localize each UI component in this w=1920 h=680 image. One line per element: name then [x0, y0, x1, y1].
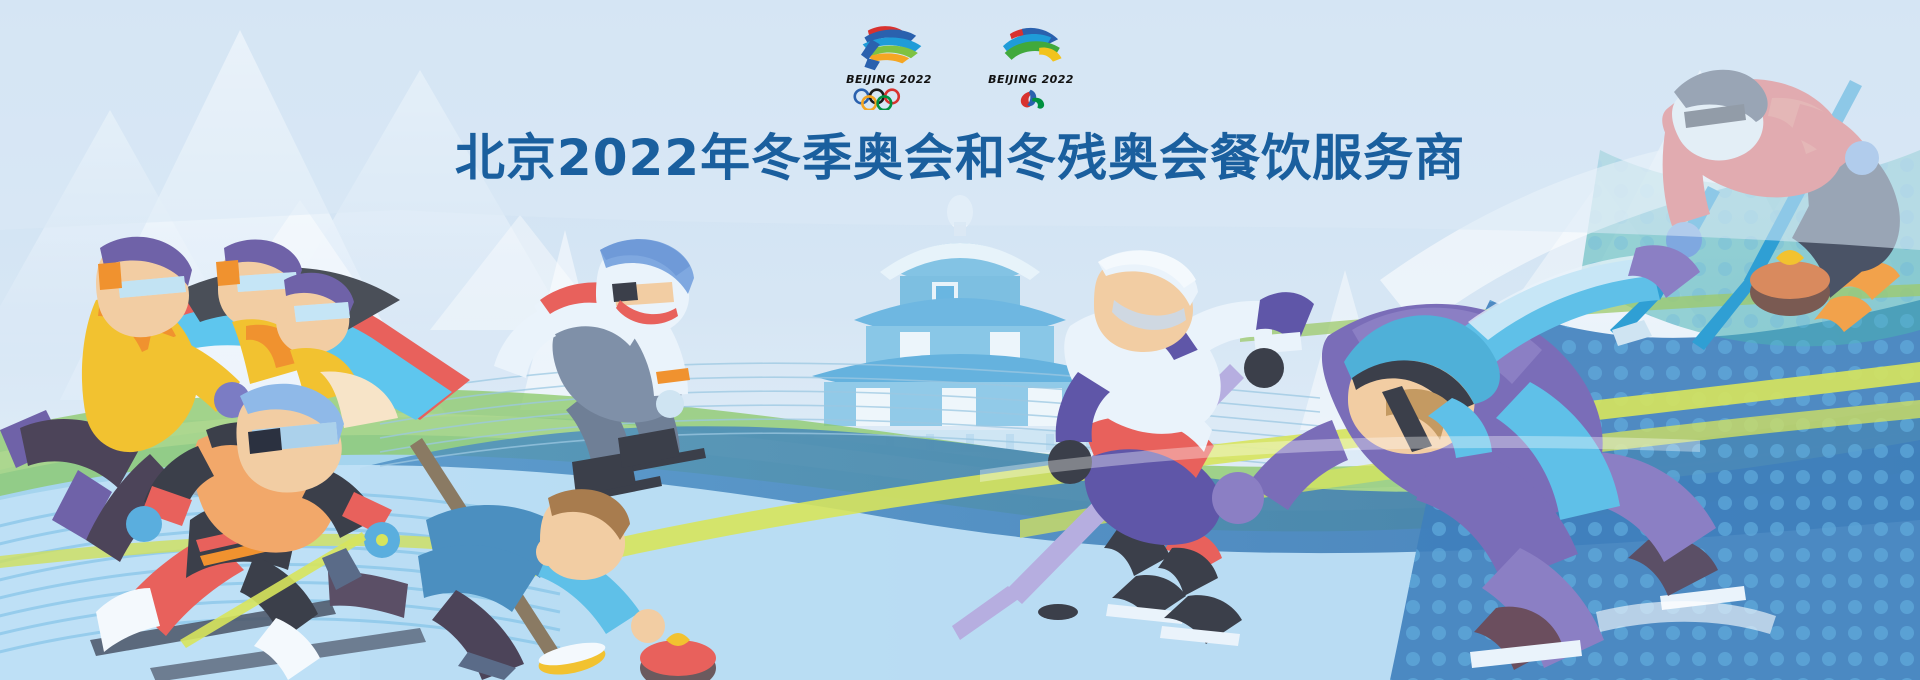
- olympic-emblem: BEIJING 2022: [841, 22, 937, 110]
- beijing-2022-winter-olympic-emblem-icon: [842, 22, 937, 72]
- beijing-2022-winter-paralympic-emblem-icon: [984, 22, 1079, 72]
- olympic-wordmark: BEIJING 2022: [846, 74, 932, 85]
- olympic-rings-icon: [848, 88, 929, 110]
- emblem-row: BEIJING 2022 BEIJING 2022: [0, 22, 1920, 110]
- olympic-banner: BEIJING 2022 BEIJING 2022: [0, 0, 1920, 680]
- paralympic-wordmark: BEIJING 2022: [988, 74, 1074, 85]
- page-title: 北京2022年冬季奥会和冬残奥会餐饮服务商: [0, 118, 1920, 190]
- paralympic-agitos-icon: [990, 88, 1071, 110]
- paralympic-emblem: BEIJING 2022: [983, 22, 1079, 110]
